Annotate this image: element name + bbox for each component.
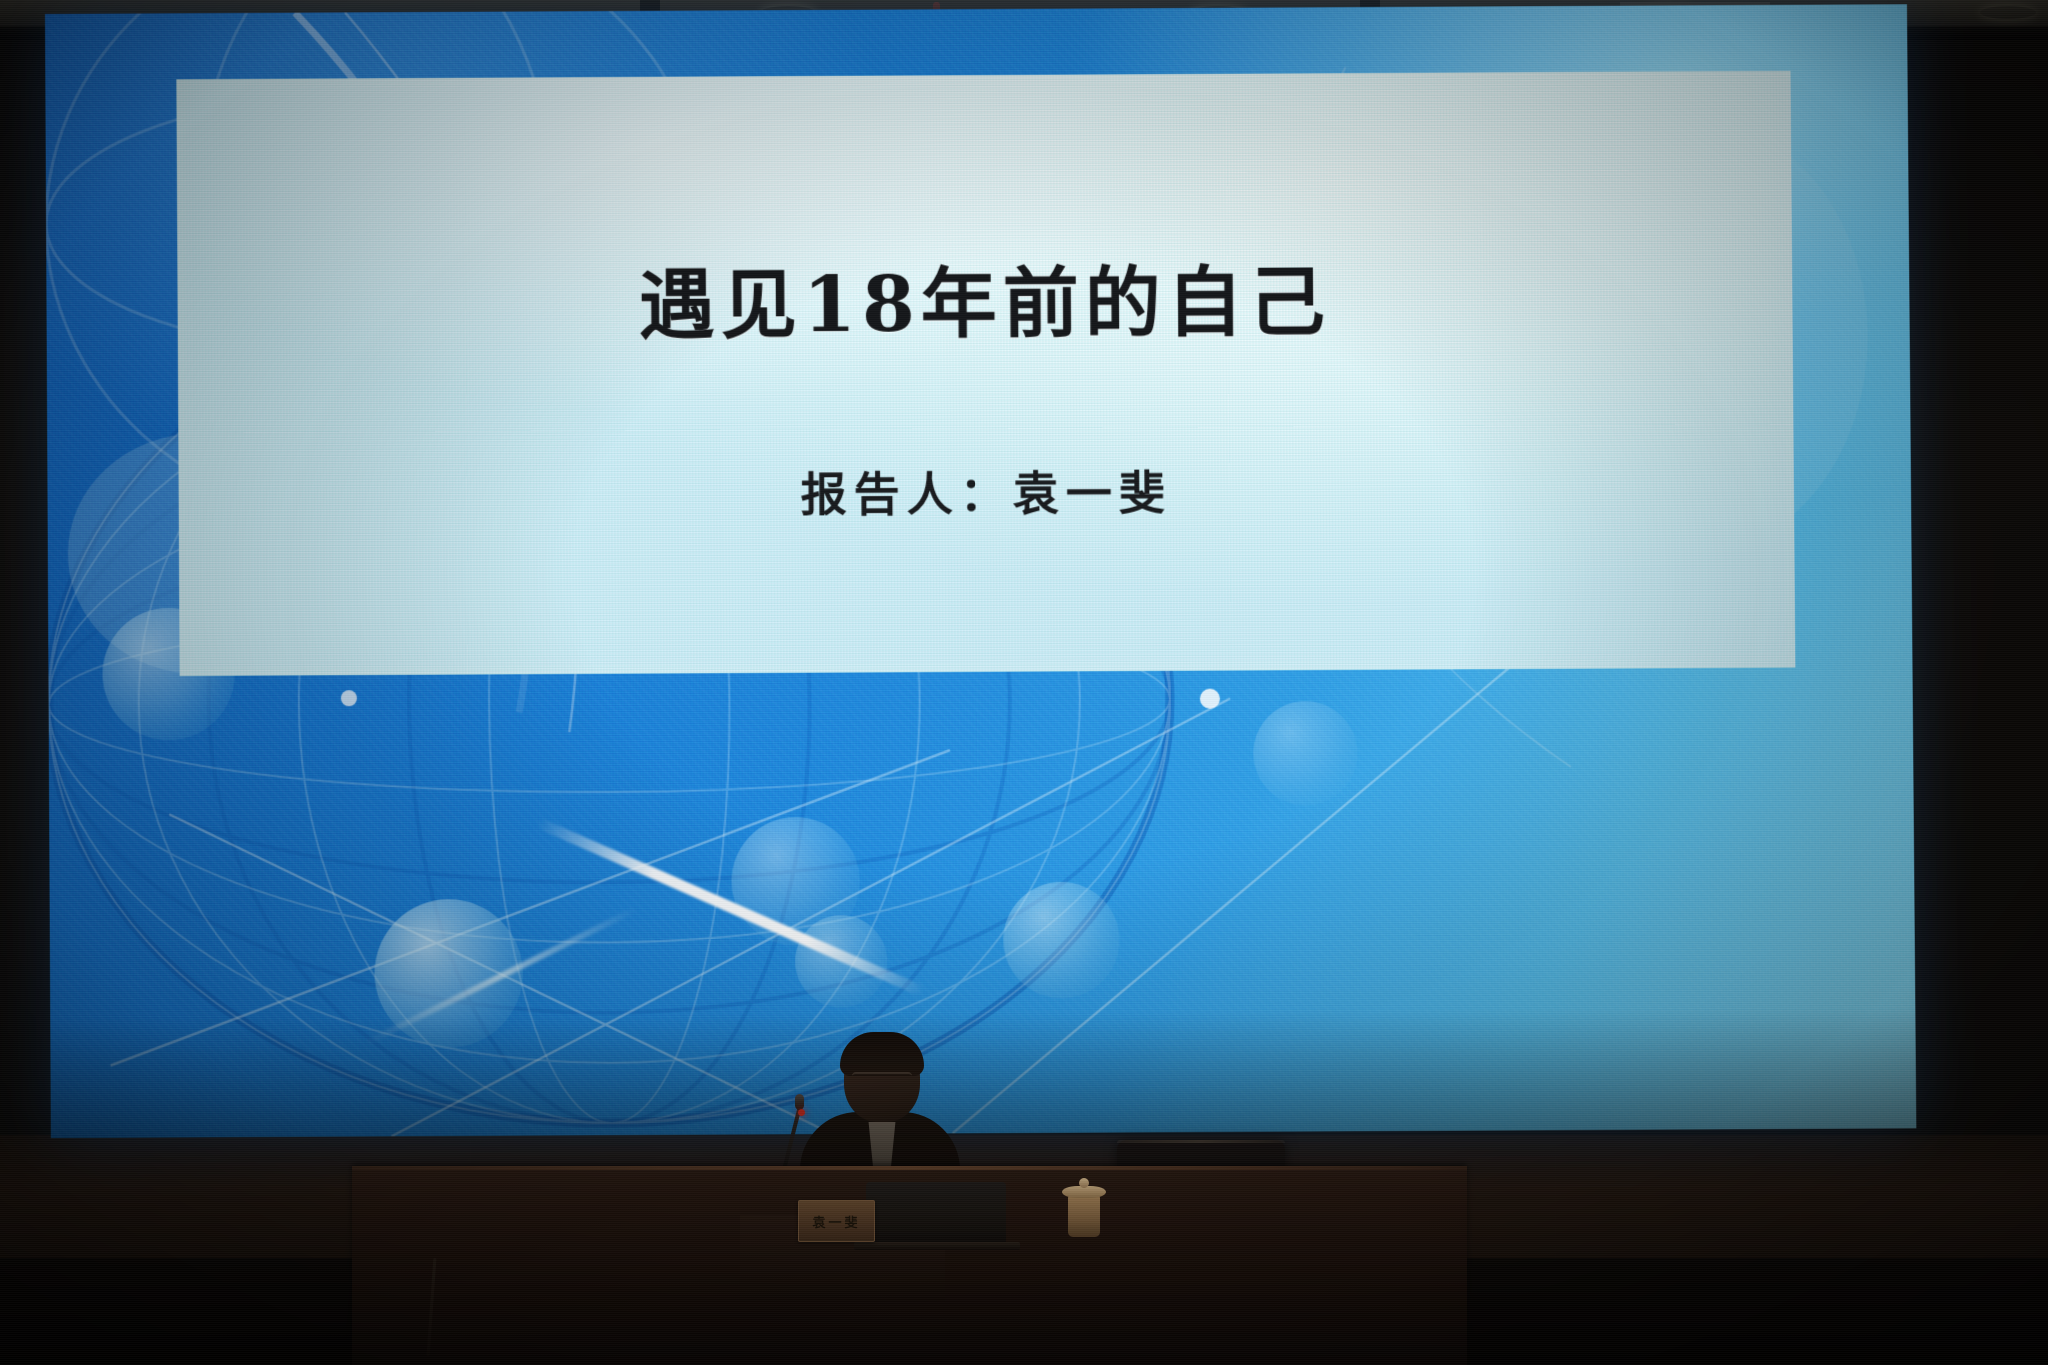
seated-speaker (800, 1036, 960, 1176)
microphone-head-icon (795, 1094, 804, 1110)
projection-screen: 遇见18年前的自己 报告人：袁一斐 (45, 4, 1916, 1138)
laptop (866, 1182, 1006, 1244)
microphone-led-indicator (798, 1109, 805, 1116)
card-pixel-grid (176, 71, 1795, 676)
tea-cup (1068, 1195, 1100, 1237)
scene-container: 遇见18年前的自己 报告人：袁一斐 袁一斐 (0, 0, 2048, 1365)
nameplate-text: 袁一斐 (812, 1212, 860, 1231)
slide-content-card: 遇见18年前的自己 报告人：袁一斐 (176, 71, 1795, 676)
speaker-hair (840, 1032, 924, 1076)
tea-cup-knob (1079, 1178, 1089, 1188)
slide-title: 遇见18年前的自己 (177, 238, 1792, 357)
desk-top-edge (352, 1166, 1467, 1170)
laptop-base (854, 1242, 1020, 1250)
slide-subtitle-presenter: 报告人：袁一斐 (178, 453, 1794, 528)
glasses-icon (852, 1072, 912, 1086)
nameplate: 袁一斐 (798, 1200, 875, 1242)
chair-top-highlight (1117, 1140, 1285, 1143)
recessed-downlight-icon (1980, 6, 2036, 19)
